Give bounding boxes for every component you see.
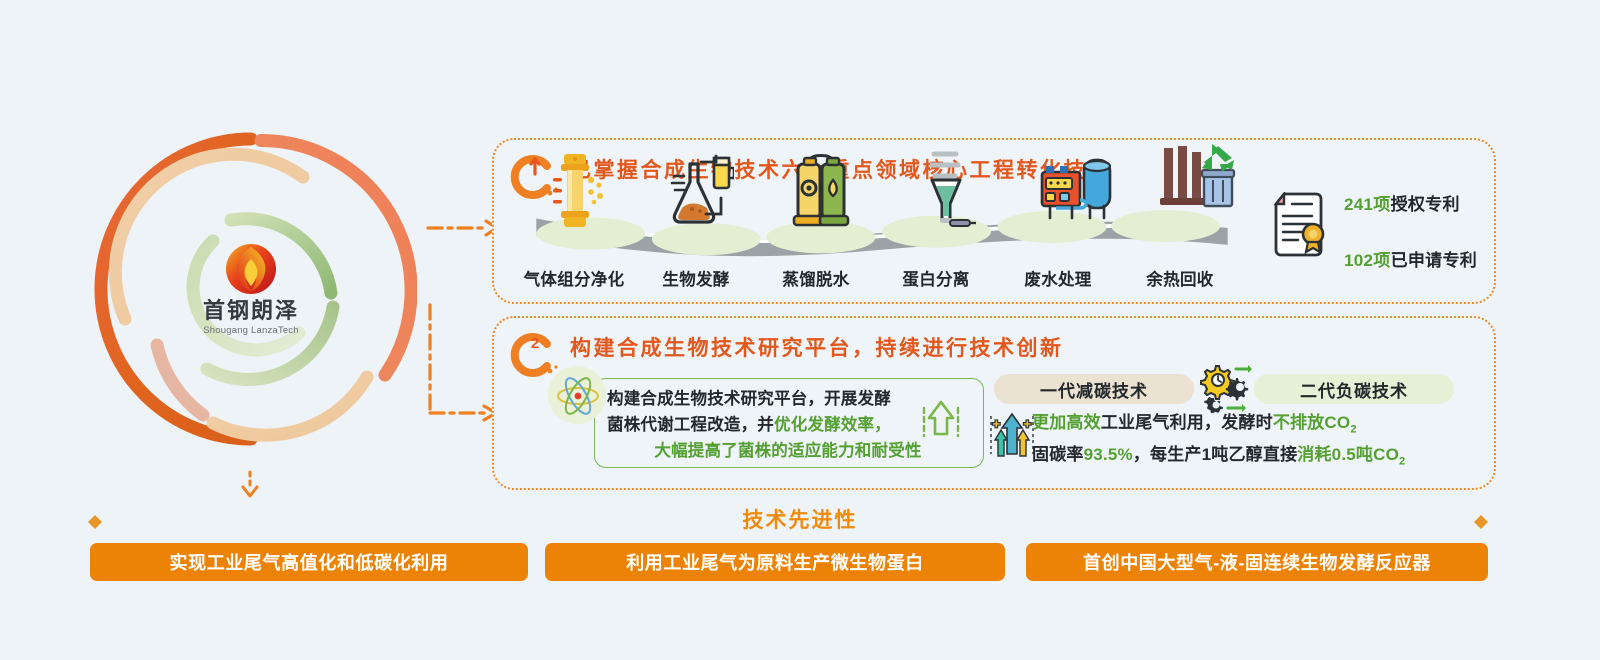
platform-line-3-green: 大幅提高了菌株的适应能力和耐受性	[654, 442, 921, 460]
road-step-4[interactable]: 废水处理	[1002, 266, 1114, 290]
panel-research-platform: 2 构建合成生物技术研究平台，持续进行技术创新 构建合成生物技术研究平台，开展发…	[492, 316, 1496, 490]
generation-2-pill[interactable]: 二代负碳技术	[1254, 374, 1454, 404]
brand-logo-group: 首钢朗泽 Shougang LanzaTech	[85, 123, 417, 455]
heat-recovery-recycle-icon	[1156, 140, 1238, 231]
co2-line1-dark-a: 工业尾气利用，发酵时	[1101, 413, 1273, 432]
dashed-arrow-up-icon	[919, 396, 963, 444]
platform-line-2-green: 优化发酵效率，	[774, 416, 891, 434]
dashed-arrow-down-icon	[243, 472, 257, 496]
co2-line2-sub: 2	[1399, 456, 1405, 468]
road-step-0[interactable]: 气体组分净化	[512, 266, 636, 290]
fermentation-flask-beer-icon	[664, 152, 734, 235]
cta-button-2[interactable]: 首创中国大型气-液-固连续生物发酵反应器	[1026, 543, 1488, 581]
patent-line-applied: 102项已申请专利	[1344, 246, 1477, 271]
upward-arrows-icon	[990, 410, 1034, 460]
gas-purification-column-icon	[544, 150, 606, 235]
platform-line-1: 构建合成生物技术研究平台，开展发酵	[607, 386, 969, 412]
section-title-advancement: 技术先进性	[721, 504, 880, 534]
distillation-tanks-icon	[790, 146, 852, 235]
road-step-label: 废水处理	[1002, 266, 1114, 290]
generation-1-pill[interactable]: 一代减碳技术	[994, 374, 1194, 404]
road-step-icons	[512, 192, 1252, 258]
co2-line1-sub: 2	[1350, 423, 1356, 435]
co2-line2-green-b: 消耗0.5吨CO	[1297, 445, 1399, 464]
road-step-label: 气体组分净化	[512, 266, 636, 290]
platform-line-3: 大幅提高了菌株的适应能力和耐受性	[607, 438, 969, 464]
co2-line2-green-a: 93.5%	[1084, 445, 1133, 464]
wastewater-plant-icon	[1036, 146, 1114, 231]
gears-transition-icon	[1200, 362, 1252, 414]
patent-applied-count: 102项	[1344, 251, 1391, 270]
dash-dot-arrow-right-icon	[428, 221, 497, 235]
atom-icon	[556, 374, 600, 423]
circular-step-2-icon: 2	[504, 326, 562, 380]
patent-granted-label: 授权专利	[1391, 195, 1460, 214]
road-step-3[interactable]: 蛋白分离	[880, 266, 992, 290]
co2-line1-green-a: 更加高效	[1032, 413, 1101, 432]
road-step-label: 蒸馏脱水	[760, 266, 872, 290]
cta-button-0[interactable]: 实现工业尾气高值化和低碳化利用	[90, 543, 528, 581]
svg-text:2: 2	[531, 335, 539, 352]
road-step-2[interactable]: 蒸馏脱水	[760, 266, 872, 290]
road-step-1[interactable]: 生物发酵	[640, 266, 752, 290]
brand-circle: 首钢朗泽 Shougang LanzaTech	[85, 123, 417, 455]
road-step-label: 余热回收	[1124, 266, 1236, 290]
patent-certificate-icon	[1272, 192, 1330, 263]
road-step-label: 生物发酵	[640, 266, 752, 290]
protein-separation-funnel-icon	[916, 146, 976, 237]
platform-line-1-text: 构建合成生物技术研究平台，开展发酵	[607, 390, 891, 408]
road-step-label: 蛋白分离	[880, 266, 992, 290]
panel-title: 构建合成生物技术研究平台，持续进行技术创新	[570, 332, 1064, 362]
co2-line-1: 更加高效工业尾气利用，发酵时不排放CO2	[1032, 410, 1484, 442]
co2-line2-dark-a: 固碳率	[1032, 445, 1084, 464]
co2-benefit-lines: 更加高效工业尾气利用，发酵时不排放CO2 固碳率93.5%，每生产1吨乙醇直接消…	[1032, 410, 1484, 475]
co2-line-2: 固碳率93.5%，每生产1吨乙醇直接消耗0.5吨CO2	[1032, 442, 1484, 474]
cta-label-0: 实现工业尾气高值化和低碳化利用	[170, 549, 449, 575]
brand-name-en: Shougang LanzaTech	[203, 326, 299, 336]
platform-line-2-dark: 菌株代谢工程改造，并	[607, 416, 774, 434]
patent-line-granted: 241项授权专利	[1344, 190, 1460, 215]
generation-2-label: 二代负碳技术	[1300, 377, 1408, 402]
flame-logo-icon	[225, 243, 277, 295]
generation-1-label: 一代减碳技术	[1040, 377, 1148, 402]
patent-granted-count: 241项	[1344, 195, 1391, 214]
co2-line2-dark-b: ，每生产1吨乙醇直接	[1133, 445, 1297, 464]
patent-applied-label: 已申请专利	[1391, 251, 1478, 270]
road-step-5[interactable]: 余热回收	[1124, 266, 1236, 290]
patent-block: 241项授权专利 102项已申请专利	[1272, 168, 1487, 278]
cta-label-2: 首创中国大型气-液-固连续生物发酵反应器	[1083, 549, 1431, 575]
platform-line-2: 菌株代谢工程改造，并优化发酵效率，	[607, 412, 969, 438]
dash-dot-arrow-right-icon	[430, 305, 496, 420]
brand-name-cn: 首钢朗泽	[203, 300, 299, 322]
co2-line1-green-b: 不排放CO	[1273, 413, 1351, 432]
platform-description-text: 构建合成生物技术研究平台，开展发酵 菌株代谢工程改造，并优化发酵效率， 大幅提高…	[607, 386, 969, 464]
infographic-canvas: 首钢朗泽 Shougang LanzaTech	[0, 0, 1600, 660]
panel-core-domains: 已掌握合成生物技术六大重点领域核心工程转化技术	[492, 138, 1496, 304]
cta-button-1[interactable]: 利用工业尾气为原料生产微生物蛋白	[545, 543, 1005, 581]
cta-label-1: 利用工业尾气为原料生产微生物蛋白	[626, 549, 924, 575]
